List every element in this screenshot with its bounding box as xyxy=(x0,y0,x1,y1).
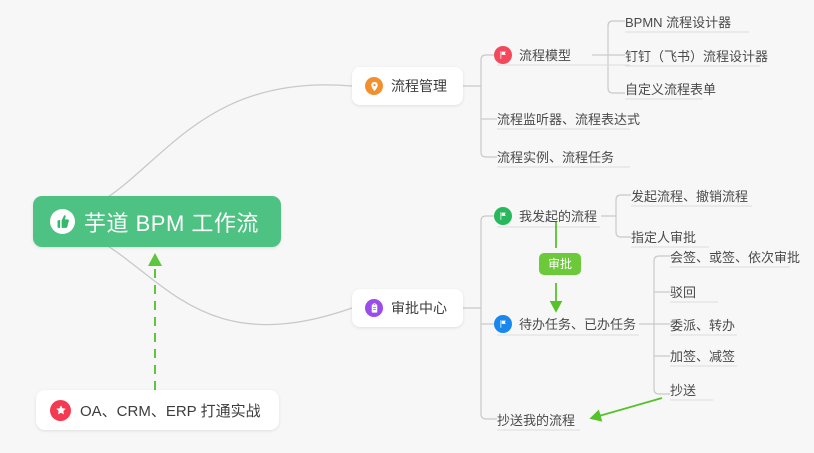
topic-todo-done-tasks[interactable]: 待办任务、已办任务 xyxy=(494,314,636,337)
leaf-process-instance-task[interactable]: 流程实例、流程任务 xyxy=(497,147,614,170)
root-node[interactable]: 芋道 BPM 工作流 xyxy=(33,196,281,247)
leaf-delegate-transfer[interactable]: 委派、转办 xyxy=(670,315,735,338)
root-label: 芋道 BPM 工作流 xyxy=(84,206,259,238)
topic-process-model[interactable]: 流程模型 xyxy=(494,45,571,68)
branch-node-approval-center[interactable]: 审批中心 xyxy=(352,289,463,327)
leaf-add-remove-sign[interactable]: 加签、减签 xyxy=(670,346,735,369)
star-icon xyxy=(50,400,71,421)
mindmap-canvas: 芋道 BPM 工作流 流程管理 审批中心 流程模型 BPMN 流程设计器 钉钉（… xyxy=(0,0,814,453)
leaf-reject[interactable]: 驳回 xyxy=(670,282,696,305)
topic-label: 流程模型 xyxy=(519,45,571,64)
leaf-carbon-copy[interactable]: 抄送 xyxy=(670,380,696,403)
leaf-cc-my-process[interactable]: 抄送我的流程 xyxy=(497,410,575,433)
approval-annotation-tag: 审批 xyxy=(539,253,581,275)
flag-icon xyxy=(494,46,512,64)
integration-card-label: OA、CRM、ERP 打通实战 xyxy=(80,400,261,421)
thumbs-up-icon xyxy=(50,209,75,234)
leaf-process-listener-expression[interactable]: 流程监听器、流程表达式 xyxy=(497,109,640,132)
leaf-start-cancel-process[interactable]: 发起流程、撤销流程 xyxy=(631,186,748,209)
leaf-countersign-orsign-sequential[interactable]: 会签、或签、依次审批 xyxy=(670,247,800,270)
leaf-custom-process-form[interactable]: 自定义流程表单 xyxy=(625,79,716,102)
branch-label: 流程管理 xyxy=(391,76,447,96)
leaf-dingtalk-feishu-designer[interactable]: 钉钉（飞书）流程设计器 xyxy=(625,46,768,69)
integration-card[interactable]: OA、CRM、ERP 打通实战 xyxy=(36,390,279,430)
clipboard-icon xyxy=(365,299,383,317)
branch-node-process-management[interactable]: 流程管理 xyxy=(352,67,463,105)
topic-label: 待办任务、已办任务 xyxy=(519,314,636,333)
topic-label: 我发起的流程 xyxy=(519,206,597,225)
flag-icon xyxy=(494,207,512,225)
topic-my-initiated-process[interactable]: 我发起的流程 xyxy=(494,206,597,229)
flag-icon xyxy=(494,315,512,333)
leaf-bpmn-designer[interactable]: BPMN 流程设计器 xyxy=(625,12,731,35)
branch-label: 审批中心 xyxy=(391,298,447,318)
location-pin-icon xyxy=(365,77,383,95)
